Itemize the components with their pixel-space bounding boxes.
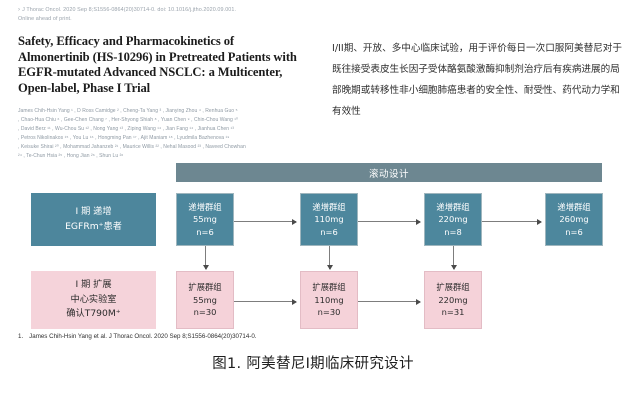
cohort-n: n=6 (196, 226, 214, 238)
abstract-line: I/II期、开放、多中心临床试验，用于评价每日一次口服阿美替尼对于 (332, 38, 612, 59)
figure-caption: 图1. 阿美替尼I期临床研究设计 (0, 352, 626, 373)
cohort-name: 递增群组 (312, 201, 345, 213)
reference-number: 1. (18, 333, 23, 340)
cohort-dose: 220mg (438, 213, 467, 225)
citation-text: J Thorac Oncol. 2020 Sep 8;S1556-0864(20… (22, 7, 236, 13)
expansion-label-line: I 期 扩展 (75, 278, 111, 293)
chevron-right-icon: › (18, 7, 20, 13)
escalation-arrow-right-icon (234, 221, 296, 222)
cohort-n: n=31 (442, 306, 465, 318)
cohort-name: 递增群组 (557, 201, 590, 213)
title-line: Safety, Efficacy and Pharmacokinetics of (18, 34, 318, 50)
abstract-line: 有效性 (332, 101, 612, 122)
cohort-dose: 110mg (314, 213, 343, 225)
expansion-phase-label: I 期 扩展 中心实验室 确认T790M⁺ (31, 271, 156, 329)
paper-screenshot-region: ›J Thorac Oncol. 2020 Sep 8;S1556-0864(2… (0, 0, 626, 155)
cohort-n: n=6 (565, 226, 583, 238)
cohort-dose: 55mg (193, 294, 217, 306)
escalation-to-expansion-arrow-down-icon (329, 246, 330, 269)
escalation-cohort-box[interactable]: 递增群组 260mg n=6 (545, 193, 603, 246)
escalation-to-expansion-arrow-down-icon (453, 246, 454, 269)
cohort-dose: 260mg (559, 213, 588, 225)
cohort-n: n=6 (320, 226, 338, 238)
expansion-cohort-box[interactable]: 扩展群组 220mg n=31 (424, 271, 482, 329)
escalation-cohort-box[interactable]: 递增群组 220mg n=8 (424, 193, 482, 246)
cohort-n: n=30 (194, 306, 217, 318)
abstract-line: 部晚期或转移性非小细胞肺癌患者的安全性、耐受性、药代动力学和 (332, 80, 612, 101)
title-line: Open-label, Phase I Trial (18, 81, 318, 97)
expansion-label-line: 中心实验室 (71, 293, 117, 308)
cohort-n: n=8 (444, 226, 462, 238)
title-line: Almonertinib (HS-10296) in Pretreated Pa… (18, 50, 318, 66)
cohort-name: 递增群组 (436, 201, 469, 213)
cohort-dose: 55mg (193, 213, 217, 225)
escalation-cohort-box[interactable]: 递增群组 55mg n=6 (176, 193, 234, 246)
escalation-label-line: EGFRm⁺患者 (65, 220, 122, 235)
rolling-design-header: 滚动设计 (176, 163, 602, 182)
chinese-abstract: I/II期、开放、多中心临床试验，用于评价每日一次口服阿美替尼对于 既往接受表皮… (332, 38, 612, 122)
diagram-reference: 1.James Chih-Hsin Yang et al. J Thorac O… (18, 333, 257, 340)
citation-block: ›J Thorac Oncol. 2020 Sep 8;S1556-0864(2… (18, 6, 318, 24)
cohort-n: n=30 (318, 306, 341, 318)
author-line: , David Berz ¹¹ , Wu-Chou Su ¹² , Nong Y… (18, 125, 318, 134)
citation-line-2: Online ahead of print. (18, 15, 318, 24)
escalation-to-expansion-arrow-down-icon (205, 246, 206, 269)
author-line: James Chih-Hsin Yang ¹ , D Ross Camidge … (18, 107, 318, 116)
escalation-phase-label: I 期 递增 EGFRm⁺患者 (31, 193, 156, 246)
escalation-arrow-right-icon (358, 221, 420, 222)
expansion-arrow-right-icon (234, 301, 296, 302)
author-line: , Chao-Hua Chiu ⁶ , Gee-Chen Chang ⁷ , H… (18, 116, 318, 125)
reference-text: James Chih-Hsin Yang et al. J Thorac Onc… (29, 333, 256, 340)
cohort-dose: 220mg (438, 294, 467, 306)
page-title: Safety, Efficacy and Pharmacokinetics of… (18, 34, 318, 96)
abstract-line: 既往接受表皮生长因子受体酪氨酸激酶抑制剂治疗后有疾病进展的局 (332, 59, 612, 80)
paper-left-column: ›J Thorac Oncol. 2020 Sep 8;S1556-0864(2… (18, 6, 318, 162)
study-design-diagram: 滚动设计 I 期 递增 EGFRm⁺患者 I 期 扩展 中心实验室 确认T790… (0, 155, 626, 340)
escalation-label-line: I 期 递增 (75, 205, 111, 220)
expansion-label-line: 确认T790M⁺ (66, 307, 120, 322)
expansion-arrow-right-icon (358, 301, 420, 302)
title-line: EGFR-mutated Advanced NSCLC: a Multicent… (18, 65, 318, 81)
author-line: , Keisuke Shirai ²⁰ , Mohammad Jahanzeb … (18, 143, 318, 152)
escalation-arrow-right-icon (482, 221, 541, 222)
citation-line-1: ›J Thorac Oncol. 2020 Sep 8;S1556-0864(2… (18, 6, 318, 15)
escalation-cohort-box[interactable]: 递增群组 110mg n=6 (300, 193, 358, 246)
author-list: James Chih-Hsin Yang ¹ , D Ross Camidge … (18, 107, 318, 162)
cohort-name: 扩展群组 (436, 281, 469, 293)
cohort-name: 扩展群组 (312, 281, 345, 293)
expansion-cohort-box[interactable]: 扩展群组 110mg n=30 (300, 271, 358, 329)
cohort-name: 扩展群组 (188, 281, 221, 293)
cohort-dose: 110mg (314, 294, 343, 306)
cohort-name: 递增群组 (188, 201, 221, 213)
author-line: , Petros Nikolinakos ¹⁵ , You Lu ¹⁶ , Ho… (18, 134, 318, 143)
expansion-cohort-box[interactable]: 扩展群组 55mg n=30 (176, 271, 234, 329)
